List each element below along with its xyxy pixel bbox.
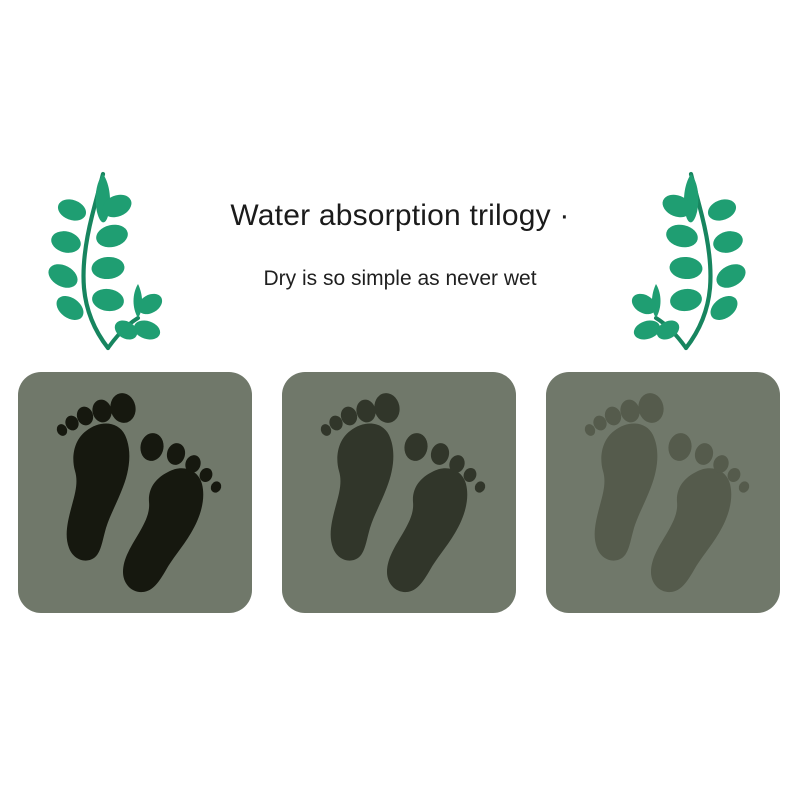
- product-graphic-canvas: Water absorption trilogy · Dry is so sim…: [0, 0, 800, 800]
- page-title: Water absorption trilogy ·: [0, 196, 800, 236]
- footprint-panel-2: [282, 372, 516, 613]
- footprint-panel-row: [0, 372, 800, 614]
- page-subtitle: Dry is so simple as never wet: [0, 236, 800, 294]
- footprint-panel-3: [546, 372, 780, 613]
- footprint-panel-1: [18, 372, 252, 613]
- header-text-block: Water absorption trilogy · Dry is so sim…: [0, 196, 800, 294]
